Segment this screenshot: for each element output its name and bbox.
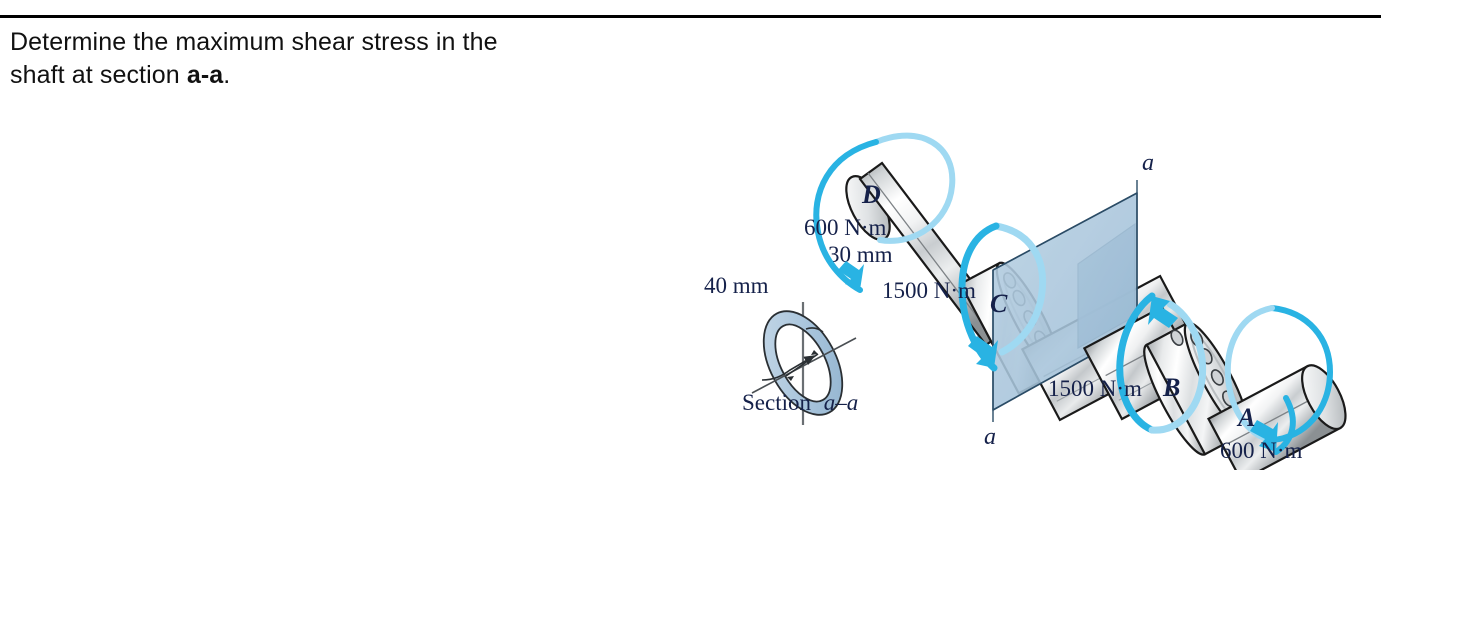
question-section-label: a-a [187,61,223,89]
point-label-C: C [990,289,1008,318]
torque-label-A: 600 N·m [1220,438,1303,463]
torque-label-D: 600 N·m [804,215,887,240]
page-canvas: Determine the maximum shear stress in th… [0,0,1459,633]
section-caption-name: a–a [824,390,859,415]
torque-label-C: 1500 N·m [882,278,976,303]
section-caption: Section a–a [742,390,858,415]
point-label-D: D [861,180,881,209]
question-line-2-suffix: . [223,61,230,89]
question-line-1: Determine the maximum shear stress in th… [10,28,498,56]
question-line-2-prefix: shaft at section [10,61,187,89]
point-label-A: A [1236,403,1255,432]
dim-inner-label: 30 mm [828,242,893,267]
dim-outer-label: 40 mm [704,273,769,298]
section-aa-detail: 40 mm 30 mm Section a–a [704,242,893,428]
cut-label-top: a [1142,150,1154,176]
cut-label-bottom: a [984,424,996,450]
point-label-B: B [1162,373,1180,402]
header-divider-rule [0,15,1381,18]
section-caption-word: Section [742,390,811,415]
torsion-shaft-figure: 40 mm 30 mm Section a–a [690,80,1350,470]
torque-label-B: 1500 N·m [1048,376,1142,401]
question-text: Determine the maximum shear stress in th… [10,26,670,92]
